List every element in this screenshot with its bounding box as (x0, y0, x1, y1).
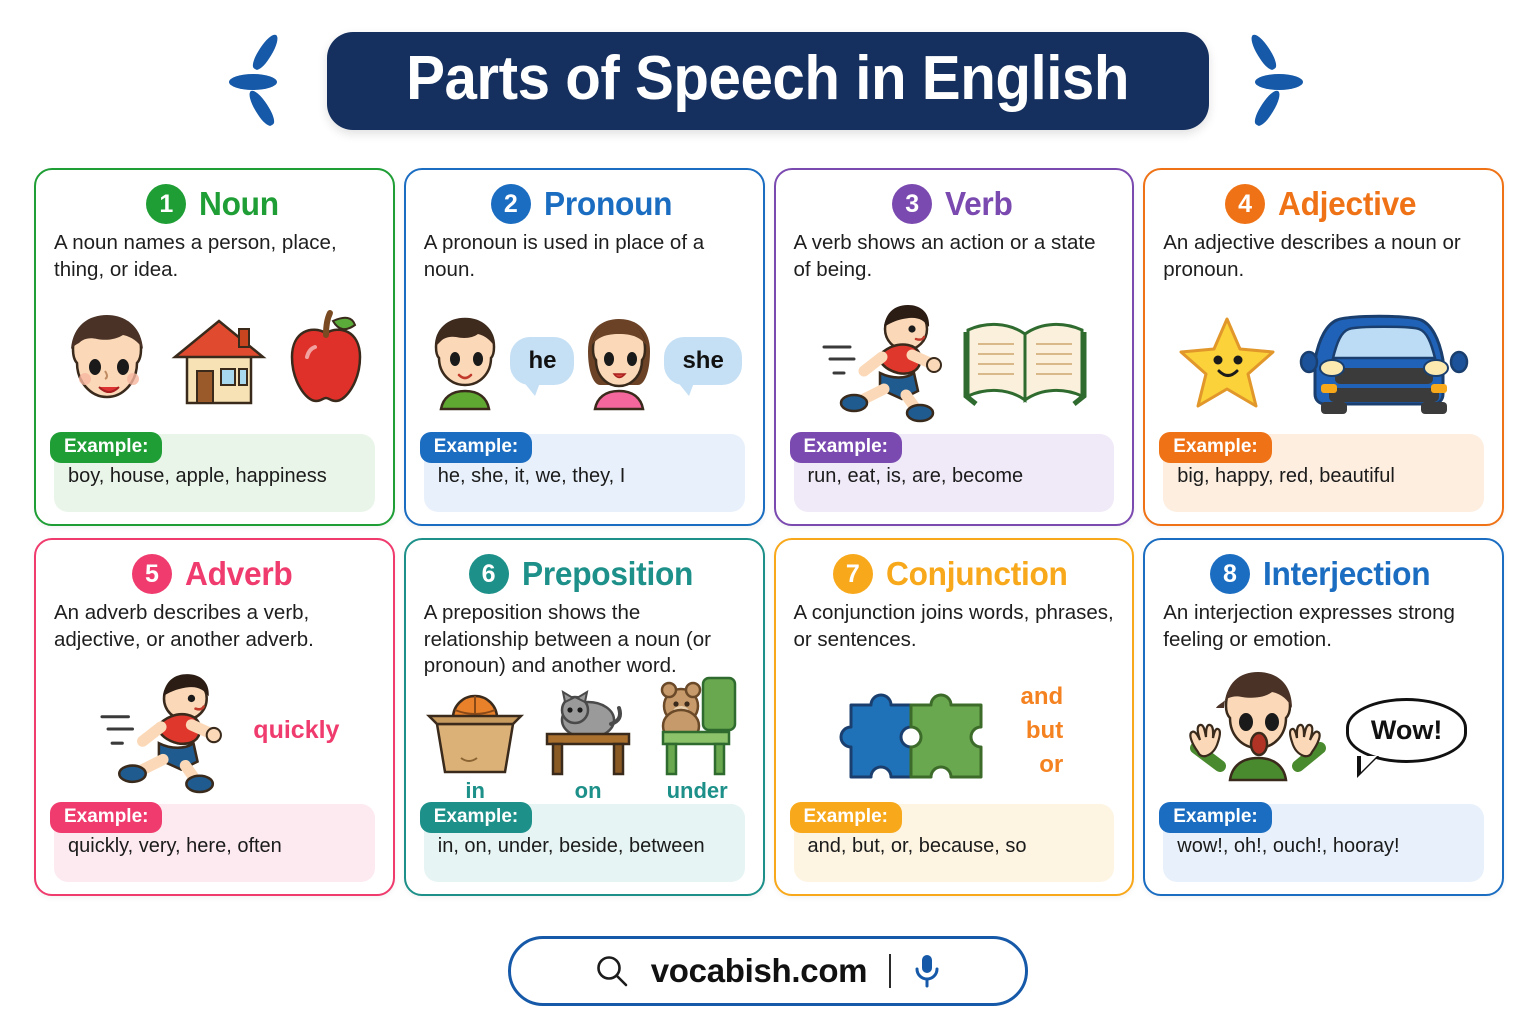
card-illustration: and but or (794, 657, 1115, 804)
example-box: Example: boy, house, apple, happiness (54, 434, 375, 512)
example-box: Example: in, on, under, beside, between (424, 804, 745, 882)
card-header: 7 Conjunction (794, 554, 1115, 594)
card-header: 5 Adverb (54, 554, 375, 594)
card-header: 4 Adjective (1163, 184, 1484, 224)
example-text: big, happy, red, beautiful (1177, 464, 1470, 488)
card-title: Interjection (1263, 555, 1430, 593)
search-bar[interactable]: vocabish.com (508, 936, 1028, 1006)
prep-label-on: on (575, 778, 602, 804)
page-title: Parts of Speech in English (407, 46, 1130, 112)
card-description: An adverb describes a verb, adjective, o… (54, 600, 375, 653)
example-label: Example: (790, 432, 902, 463)
apple-icon (283, 311, 369, 411)
prep-group-in: in (423, 690, 527, 804)
card-verb[interactable]: 3 Verb A verb shows an action or a state… (774, 168, 1135, 526)
example-text: run, eat, is, are, become (808, 464, 1101, 488)
site-name: vocabish.com (651, 952, 867, 990)
example-label: Example: (1159, 802, 1271, 833)
card-number-badge: 8 (1210, 554, 1250, 594)
word-and: and (1021, 683, 1064, 711)
card-adverb[interactable]: 5 Adverb An adverb describes a verb, adj… (34, 538, 395, 896)
title-banner: Parts of Speech in English (327, 32, 1208, 130)
card-number-badge: 5 (132, 554, 172, 594)
example-box: Example: run, eat, is, are, become (794, 434, 1115, 512)
card-number-badge: 7 (833, 554, 873, 594)
example-label: Example: (420, 432, 532, 463)
card-number-badge: 3 (892, 184, 932, 224)
example-text: he, she, it, we, they, I (438, 464, 731, 488)
prep-label-in: in (465, 778, 485, 804)
card-illustration: Wow! (1163, 657, 1484, 804)
example-label: Example: (50, 432, 162, 463)
card-noun[interactable]: 1 Noun A noun names a person, place, thi… (34, 168, 395, 526)
card-illustration (54, 287, 375, 434)
prep-label-under: under (667, 778, 728, 804)
example-label: Example: (420, 802, 532, 833)
card-header: 8 Interjection (1163, 554, 1484, 594)
open-book-icon (962, 312, 1088, 410)
speech-bubble-wow: Wow! (1346, 698, 1467, 763)
house-icon (167, 311, 271, 411)
card-pronoun[interactable]: 2 Pronoun A pronoun is used in place of … (404, 168, 765, 526)
example-text: boy, house, apple, happiness (68, 464, 361, 488)
ball-in-box-icon (423, 690, 527, 776)
speech-bubble-he: he (510, 337, 574, 385)
cat-on-table-icon (533, 690, 643, 776)
prep-group-on: on (533, 690, 643, 804)
smiling-star-icon (1179, 313, 1275, 409)
card-number-badge: 4 (1225, 184, 1265, 224)
girl-icon (580, 313, 658, 409)
accent-word: quickly (253, 716, 339, 745)
card-illustration: quickly (54, 657, 375, 804)
cards-grid: 1 Noun A noun names a person, place, thi… (34, 168, 1504, 896)
footer-divider (889, 954, 891, 988)
card-title: Pronoun (544, 185, 672, 223)
card-preposition[interactable]: 6 Preposition A preposition shows the re… (404, 538, 765, 896)
microphone-icon[interactable] (913, 953, 941, 989)
card-description: A preposition shows the relationship bet… (424, 600, 745, 680)
card-title: Adverb (185, 555, 292, 593)
card-description: A noun names a person, place, thing, or … (54, 230, 375, 283)
card-header: 1 Noun (54, 184, 375, 224)
example-label: Example: (790, 802, 902, 833)
example-text: quickly, very, here, often (68, 834, 361, 858)
example-box: Example: wow!, oh!, ouch!, hooray! (1163, 804, 1484, 882)
boy-face-icon (59, 309, 155, 413)
word-or: or (1039, 751, 1063, 779)
card-illustration (794, 287, 1115, 434)
sparkle-right-icon (1235, 26, 1317, 136)
card-title: Preposition (522, 555, 693, 593)
sparkle-left-icon (219, 26, 301, 136)
example-text: in, on, under, beside, between (438, 834, 731, 858)
card-description: An interjection expresses strong feeling… (1163, 600, 1484, 653)
infographic-page: Parts of Speech in English 1 Noun A noun… (0, 0, 1536, 1024)
teddy-on-chair-icon (649, 674, 745, 776)
card-header: 3 Verb (794, 184, 1115, 224)
card-adjective[interactable]: 4 Adjective An adjective describes a nou… (1143, 168, 1504, 526)
example-label: Example: (50, 802, 162, 833)
card-header: 2 Pronoun (424, 184, 745, 224)
speech-bubble-she: she (664, 337, 741, 385)
search-icon[interactable] (595, 954, 629, 988)
card-description: A conjunction joins words, phrases, or s… (794, 600, 1115, 653)
card-title: Verb (945, 185, 1013, 223)
puzzle-pieces-icon (845, 679, 987, 783)
example-box: Example: he, she, it, we, they, I (424, 434, 745, 512)
example-box: Example: big, happy, red, beautiful (1163, 434, 1484, 512)
card-title: Adjective (1278, 185, 1416, 223)
running-boy-icon (89, 670, 239, 792)
running-boy-icon (820, 301, 950, 421)
card-illustration: he she (424, 287, 745, 434)
card-description: A verb shows an action or a state of bei… (794, 230, 1115, 283)
card-number-badge: 2 (491, 184, 531, 224)
word-but: but (1026, 717, 1063, 745)
card-conjunction[interactable]: 7 Conjunction A conjunction joins words,… (774, 538, 1135, 896)
footer: vocabish.com (0, 936, 1536, 1006)
card-description: A pronoun is used in place of a noun. (424, 230, 745, 283)
boy-icon (426, 313, 504, 409)
card-description: An adjective describes a noun or pronoun… (1163, 230, 1484, 283)
blue-car-icon (1299, 306, 1469, 416)
example-text: and, but, or, because, so (808, 834, 1101, 858)
card-header: 6 Preposition (424, 554, 745, 594)
card-number-badge: 6 (469, 554, 509, 594)
card-title: Noun (199, 185, 279, 223)
card-illustration: in on (424, 684, 745, 804)
card-title: Conjunction (886, 555, 1068, 593)
example-label: Example: (1159, 432, 1271, 463)
card-illustration (1163, 287, 1484, 434)
conjunction-word-stack: and but or (1021, 683, 1064, 779)
header: Parts of Speech in English (0, 18, 1536, 144)
example-text: wow!, oh!, ouch!, hooray! (1177, 834, 1470, 858)
card-number-badge: 1 (146, 184, 186, 224)
example-box: Example: and, but, or, because, so (794, 804, 1115, 882)
card-interjection[interactable]: 8 Interjection An interjection expresses… (1143, 538, 1504, 896)
surprised-boy-icon (1180, 670, 1330, 792)
prep-group-under: under (649, 674, 745, 804)
example-box: Example: quickly, very, here, often (54, 804, 375, 882)
